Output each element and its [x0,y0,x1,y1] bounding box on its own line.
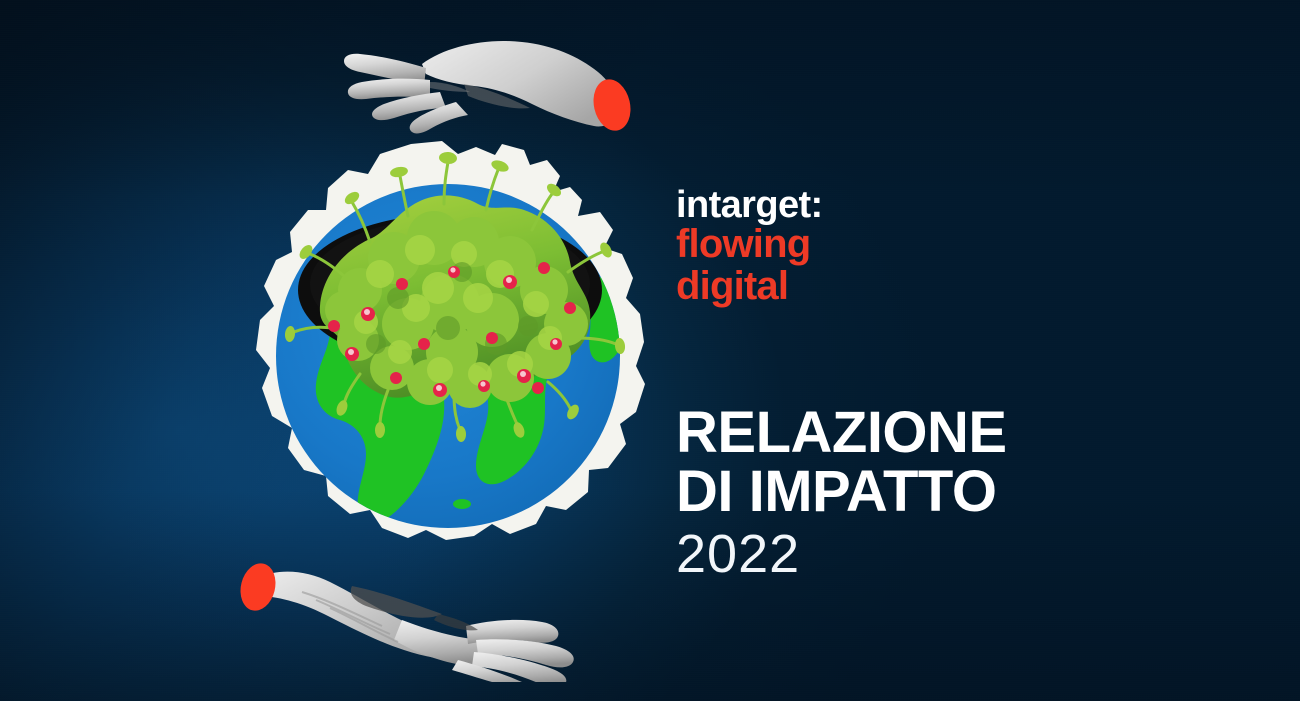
brand-name: intarget: [676,186,1236,224]
report-cover: intarget: flowing digital RELAZIONE DI I… [0,0,1300,701]
title-year: 2022 [676,526,1236,583]
title-line-2: DI IMPATTO [676,462,1236,521]
hand-top-icon [326,22,638,138]
page-title: RELAZIONE DI IMPATTO 2022 [676,403,1236,582]
globe-with-plant-illustration [248,138,652,544]
title-line-1: RELAZIONE [676,403,1236,462]
wrist-cut-bottom [236,560,281,615]
brand-logo: intarget: flowing digital [676,186,1236,307]
hand-bottom-icon [232,556,604,682]
brand-tagline-line-2: digital [676,266,1236,308]
brand-tagline-line-1: flowing [676,224,1236,266]
cover-text-block: intarget: flowing digital RELAZIONE DI I… [676,186,1236,582]
